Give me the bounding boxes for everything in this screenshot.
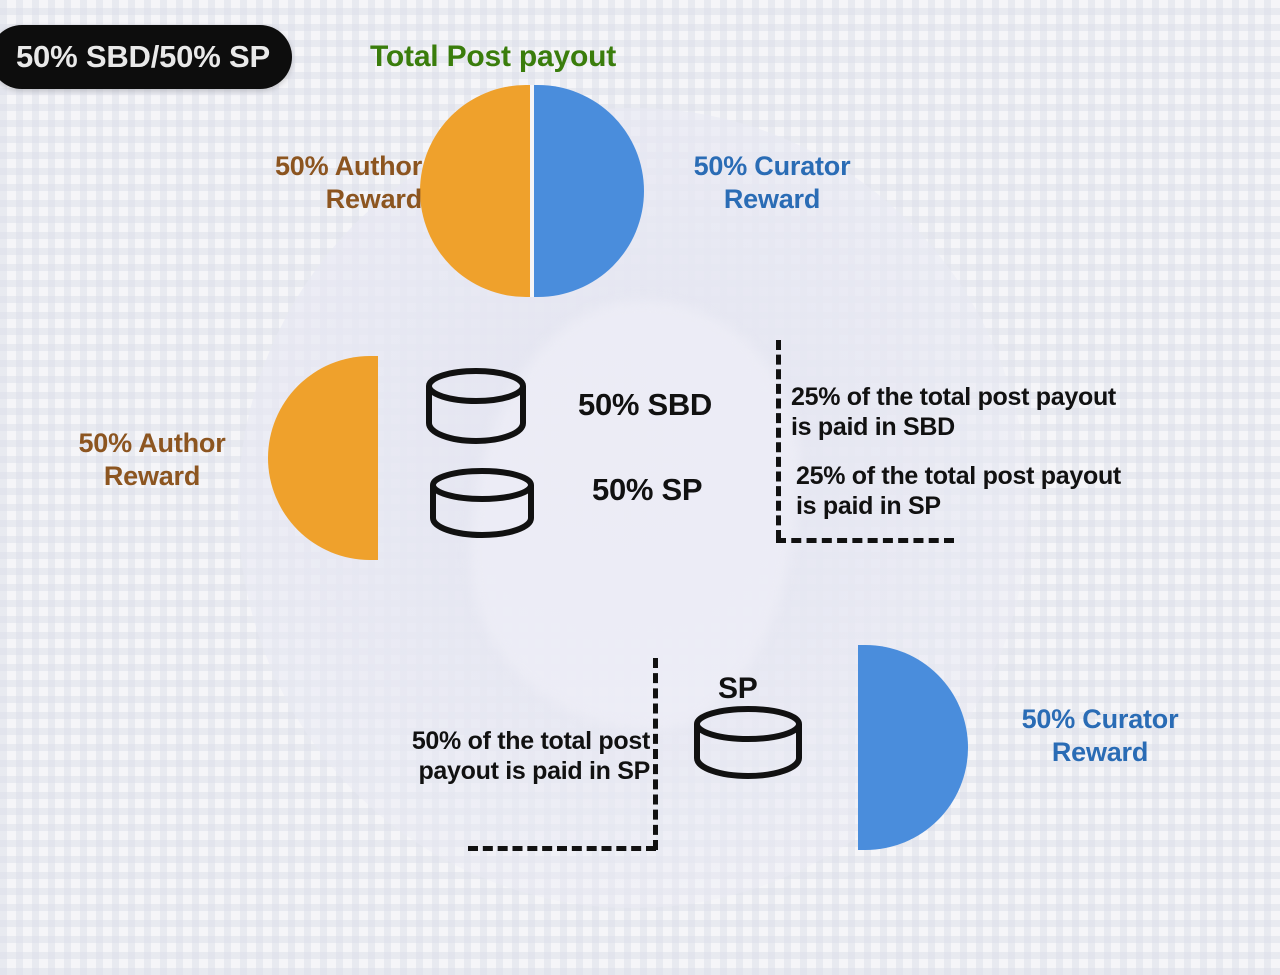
badge-label: 50% SBD/50% SP (16, 39, 270, 75)
curator-half-circle (858, 645, 968, 850)
pie-label-curator: 50% Curator Reward (652, 150, 892, 216)
coin-icon-sp (426, 468, 538, 546)
bracket-vertical-line (653, 658, 658, 850)
infographic-canvas: 50% SBD/50% SP Total Post payout 50% Aut… (0, 0, 1280, 975)
author-note-sbd: 25% of the total post payout is paid in … (791, 383, 1141, 442)
coin-icon-sbd (422, 368, 530, 448)
pie-slice-author (420, 85, 532, 297)
coin-icon-sp-curator (690, 706, 806, 788)
curator-coin-caption: SP (718, 672, 758, 706)
author-half-circle (268, 356, 378, 560)
pie-slice-curator (532, 85, 644, 297)
curator-reward-label: 50% Curator Reward (980, 703, 1220, 769)
author-amount-sbd: 50% SBD (578, 387, 712, 423)
page-title: Total Post payout (370, 40, 616, 74)
author-note-sp: 25% of the total post payout is paid in … (796, 462, 1146, 521)
bracket-vertical-line (776, 340, 781, 540)
total-payout-pie-chart (420, 85, 644, 297)
pie-label-author: 50% Author Reward (200, 150, 422, 216)
pie-slice-divider (530, 85, 534, 297)
author-reward-label: 50% Author Reward (42, 427, 262, 493)
curator-note: 50% of the total post payout is paid in … (330, 727, 650, 786)
bracket-horizontal-line (468, 846, 656, 851)
sbd-sp-split-badge: 50% SBD/50% SP (0, 25, 292, 89)
author-amount-sp: 50% SP (592, 472, 702, 508)
bracket-horizontal-line (776, 538, 954, 543)
